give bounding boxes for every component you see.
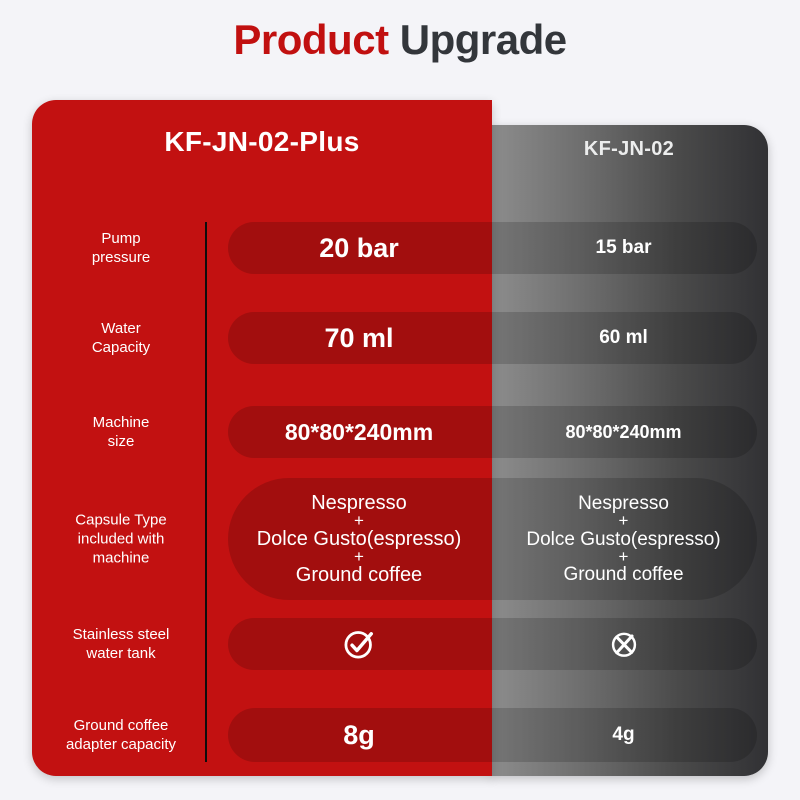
row-label-line: pressure — [92, 249, 150, 266]
row-label-line: Machine — [93, 414, 150, 431]
row-label: Capsule Type included with machine — [42, 511, 200, 568]
row-label-line: adapter capacity — [66, 736, 176, 753]
row-label-line: Ground coffee — [74, 717, 169, 734]
row-value-pill: 8g 4g — [228, 708, 757, 762]
capsule-plus: + — [257, 513, 462, 529]
row-label-line: included with — [78, 531, 165, 548]
base-value: 4g — [490, 708, 757, 762]
row-value-pill — [228, 618, 757, 670]
row-label-line: Capsule Type — [75, 512, 166, 529]
row-value-pill: Nespresso + Dolce Gusto(espresso) + Grou… — [228, 478, 757, 600]
plus-value: 70 ml — [228, 312, 490, 364]
row-label-line: machine — [93, 550, 150, 567]
plus-value: Nespresso + Dolce Gusto(espresso) + Grou… — [228, 478, 490, 600]
row-label-line: Capacity — [92, 339, 150, 356]
row-label-line: Pump — [101, 230, 140, 247]
row-label: Pump pressure — [42, 229, 200, 267]
table-row: Capsule Type included with machine Nespr… — [32, 478, 768, 600]
table-row: Machine size 80*80*240mm 80*80*240mm — [32, 406, 768, 458]
table-row: Ground coffee adapter capacity 8g 4g — [32, 708, 768, 762]
table-row: Pump pressure 20 bar 15 bar — [32, 222, 768, 274]
capsule-line: Dolce Gusto(espresso) — [257, 529, 462, 549]
row-value-pill: 20 bar 15 bar — [228, 222, 757, 274]
base-value: 60 ml — [490, 312, 757, 364]
row-label-line: Stainless steel — [73, 626, 170, 643]
row-value-pill: 80*80*240mm 80*80*240mm — [228, 406, 757, 458]
plus-value: 80*80*240mm — [228, 406, 490, 458]
cross-circle-icon — [608, 628, 640, 660]
row-label: Ground coffee adapter capacity — [42, 716, 200, 754]
page-title: Product Upgrade — [0, 16, 800, 64]
plus-value — [228, 618, 490, 670]
capsule-line: Ground coffee — [257, 565, 462, 585]
base-value: Nespresso + Dolce Gusto(espresso) + Grou… — [490, 478, 757, 600]
comparison-board: KF-JN-02-Plus KF-JN-02 Pump pressure 20 … — [32, 100, 768, 776]
base-value — [490, 618, 757, 670]
title-product-word: Product — [233, 16, 388, 63]
title-upgrade-word: Upgrade — [389, 16, 567, 63]
capsule-plus: + — [526, 549, 720, 565]
row-label-line: size — [108, 433, 135, 450]
row-label-line: Water — [101, 320, 140, 337]
row-value-pill: 70 ml 60 ml — [228, 312, 757, 364]
plus-value: 8g — [228, 708, 490, 762]
base-value: 80*80*240mm — [490, 406, 757, 458]
row-label: Machine size — [42, 413, 200, 451]
capsule-line: Ground coffee — [526, 565, 720, 584]
capsule-line: Nespresso — [257, 493, 462, 513]
base-model-header: KF-JN-02 — [490, 138, 768, 161]
row-label-line: water tank — [86, 645, 155, 662]
capsule-plus: + — [257, 549, 462, 565]
base-value: 15 bar — [490, 222, 757, 274]
row-label: Water Capacity — [42, 319, 200, 357]
plus-value: 20 bar — [228, 222, 490, 274]
row-label: Stainless steel water tank — [42, 625, 200, 663]
table-row: Water Capacity 70 ml 60 ml — [32, 312, 768, 364]
check-circle-icon — [341, 626, 377, 662]
capsule-plus: + — [526, 513, 720, 529]
table-row: Stainless steel water tank — [32, 618, 768, 670]
capsule-line: Dolce Gusto(espresso) — [526, 530, 720, 549]
plus-model-header: KF-JN-02-Plus — [32, 126, 492, 158]
